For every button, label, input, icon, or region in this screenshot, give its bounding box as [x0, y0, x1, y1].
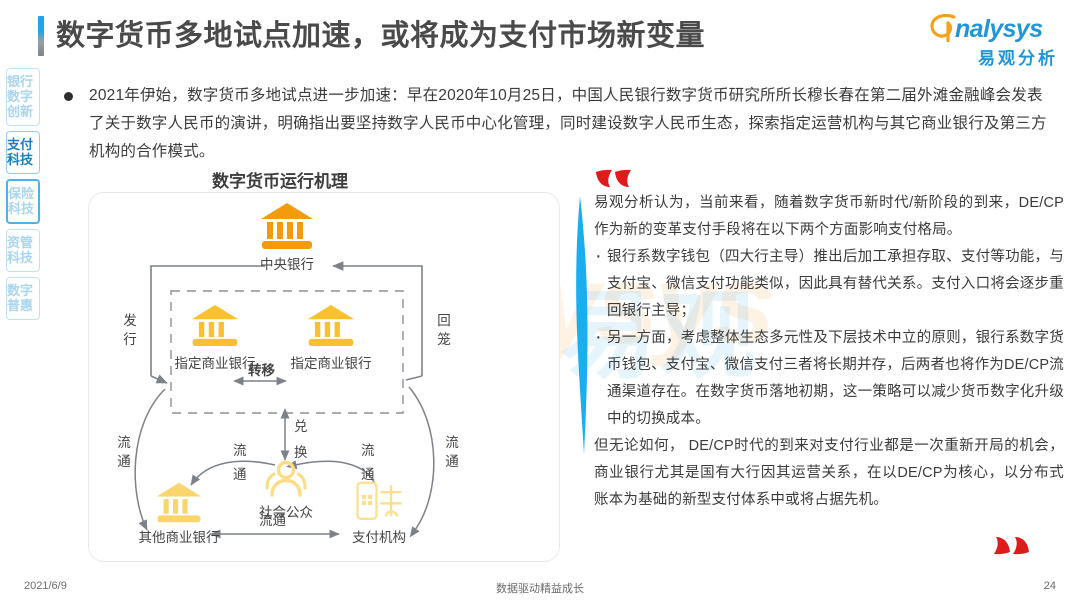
designated-bank-left-icon — [190, 303, 240, 348]
sidebar-item-label: 支付科技 — [7, 137, 39, 167]
footer-tagline: 数据驱动精益成长 — [0, 580, 1080, 596]
commentary-bullet-1: 银行系数字钱包（四大行主导）推出后加工承担存取、支付等功能，与支付宝、微信支付功… — [594, 244, 1064, 325]
sidebar-item-label: 数字普惠 — [7, 283, 39, 313]
edge-label-circulate-bottom: 流通 — [259, 509, 286, 529]
sidebar-item-bank-digital-innovation[interactable]: 银行数字创新 — [6, 68, 40, 126]
diagram-node-payment-org: 支付机构 — [337, 481, 421, 546]
quote-close-icon — [992, 534, 1032, 561]
bullet-dot-icon — [64, 92, 73, 101]
sidebar-item-digital-inclusive-finance[interactable]: 数字普惠 — [6, 277, 40, 320]
diagram-container: 中央银行 指定商业银行 指定商业银行 — [88, 192, 560, 562]
logo-wordmark-text: nalysys — [955, 17, 1043, 42]
diagram-node-central-bank: 中央银行 — [249, 201, 325, 273]
analysys-logo: nalysys 易观分析 — [930, 12, 1058, 66]
logo-wordmark-row: nalysys — [930, 12, 1058, 42]
commentary-paragraph-2: 但无论如何， DE/CP时代的到来对支付行业都是一次重新开局的机会，商业银行尤其… — [594, 433, 1064, 514]
diagram-node-designated-bank-left: 指定商业银行 — [173, 303, 257, 372]
intro-bullet-row: 2021年伊始，数字货币多地试点进一步加速：早在2020年10月25日，中国人民… — [64, 82, 1064, 166]
public-people-icon — [265, 459, 307, 499]
logo-swoosh-icon — [930, 14, 957, 42]
sidebar: 银行数字创新 支付科技 保险科技 资管科技 数字普惠 — [6, 68, 42, 325]
edge-label-circulate-mid-right-1: 流 — [361, 439, 375, 459]
diagram-node-designated-bank-right: 指定商业银行 — [289, 303, 373, 372]
mobile-payment-icon — [353, 481, 405, 524]
other-bank-label: 其他商业银行 — [139, 526, 220, 546]
page-title-wrap: 数字货币多地试点加速，或将成为支付市场新变量 — [38, 16, 705, 56]
edge-label-circulate-mid-right-2: 通 — [361, 463, 375, 483]
edge-label-circulate-right: 流通 — [445, 433, 459, 471]
sidebar-item-label: 资管科技 — [7, 235, 39, 265]
sidebar-item-label: 银行数字创新 — [7, 74, 39, 119]
edge-label-transfer: 转移 — [248, 359, 275, 379]
edge-label-withdraw: 回笼 — [437, 311, 451, 349]
designated-bank-right-icon — [306, 303, 356, 348]
central-bank-label: 中央银行 — [260, 253, 314, 273]
page-title: 数字货币多地试点加速，或将成为支付市场新变量 — [56, 22, 705, 51]
commentary-bullet-2: 另一方面，考虑整体生态多元性及下层技术中立的原则，银行系数字货币钱包、支付宝、微… — [594, 325, 1064, 433]
other-bank-icon — [155, 481, 203, 524]
blue-leaf-decoration — [566, 196, 592, 461]
edge-label-circulate-mid-left-2: 通 — [233, 463, 247, 483]
edge-label-circulate-left: 流通 — [117, 433, 131, 471]
commentary-paragraph-1: 易观分析认为，当前来看，随着数字货币新时代/新阶段的到来，DE/CP作为新的变革… — [594, 190, 1064, 244]
right-commentary-panel: 易观分析认为，当前来看，随着数字货币新时代/新阶段的到来，DE/CP作为新的变革… — [594, 190, 1064, 514]
sidebar-item-asset-management-tech[interactable]: 资管科技 — [6, 229, 40, 272]
designated-bank-left-label: 指定商业银行 — [175, 352, 256, 372]
footer: 2021/6/9 数据驱动精益成长 24 — [0, 580, 1080, 598]
commentary-bullet-list: 银行系数字钱包（四大行主导）推出后加工承担存取、支付等功能，与支付宝、微信支付功… — [594, 244, 1064, 433]
edge-label-exchange-1: 兑 — [294, 415, 308, 435]
diagram-node-other-bank: 其他商业银行 — [137, 481, 221, 546]
edge-label-exchange-2: 换 — [294, 441, 308, 461]
slide-root: 数字货币多地试点加速，或将成为支付市场新变量 nalysys 易观分析 银行数字… — [0, 0, 1080, 608]
title-accent-bar — [38, 16, 44, 56]
logo-chinese-text: 易观分析 — [930, 44, 1058, 69]
central-bank-icon — [259, 201, 315, 251]
footer-page-number: 24 — [1044, 580, 1056, 592]
intro-bullet-text: 2021年伊始，数字货币多地试点进一步加速：早在2020年10月25日，中国人民… — [89, 82, 1057, 166]
edge-label-issue: 发行 — [123, 311, 137, 349]
edge-label-circulate-mid-left-1: 流 — [233, 439, 247, 459]
designated-bank-right-label: 指定商业银行 — [291, 352, 372, 372]
diagram-title: 数字货币运行机理 — [0, 167, 560, 192]
payment-org-label: 支付机构 — [352, 526, 406, 546]
